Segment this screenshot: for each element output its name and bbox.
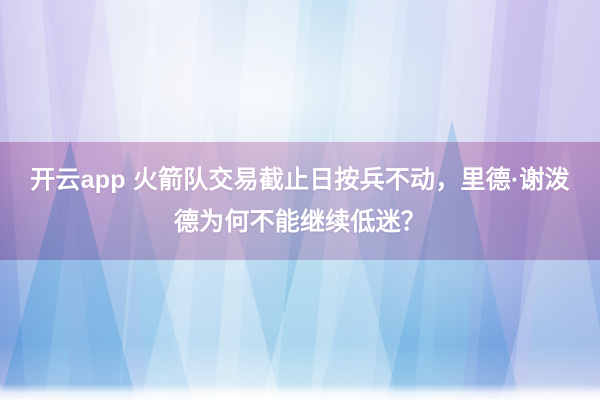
page-title-line-1: 开云app 火箭队交易截止日按兵不动，里德·谢泼	[8, 159, 592, 201]
page-title: 开云app 火箭队交易截止日按兵不动，里德·谢泼德为何不能继续低迷？	[0, 159, 600, 243]
page-title-line-2: 德为何不能继续低迷？	[8, 201, 592, 243]
banner-image: 开云app 火箭队交易截止日按兵不动，里德·谢泼德为何不能继续低迷？	[0, 0, 600, 400]
